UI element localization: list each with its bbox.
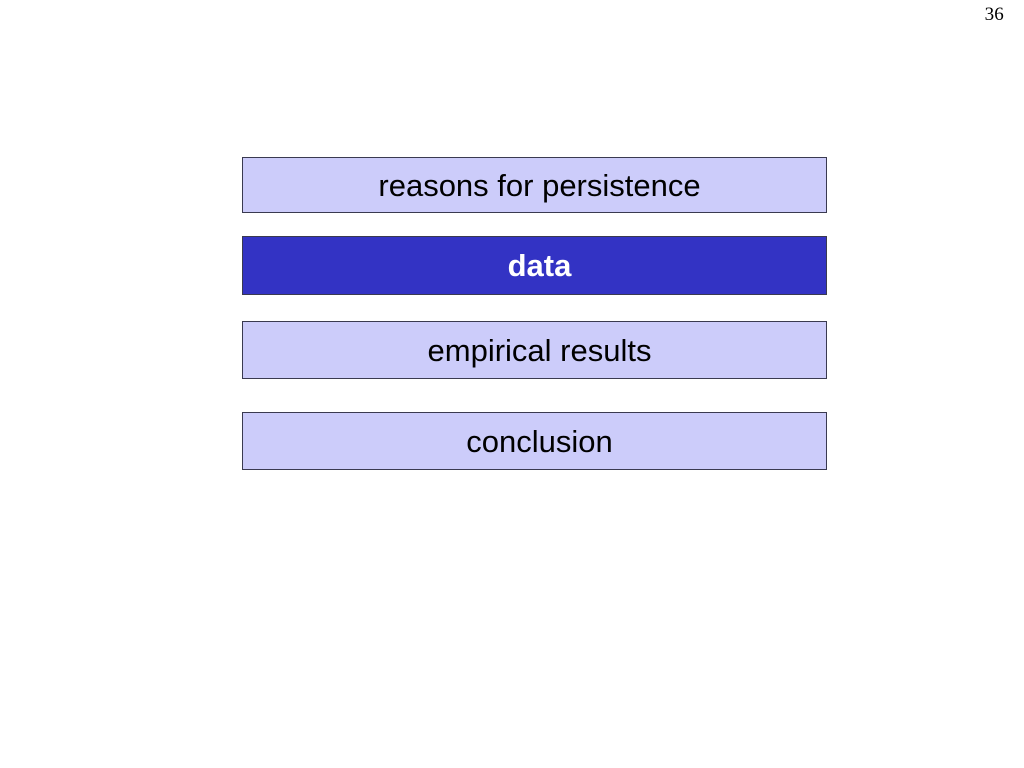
outline-item-label: reasons for persistence	[378, 170, 700, 201]
outline-item-conclusion[interactable]: conclusion	[242, 412, 827, 470]
outline-item-label: conclusion	[466, 426, 612, 457]
outline-item-label: data	[508, 250, 572, 281]
outline-item-data[interactable]: data	[242, 236, 827, 295]
outline-item-empirical-results[interactable]: empirical results	[242, 321, 827, 379]
outline-item-label: empirical results	[428, 335, 652, 366]
outline-item-reasons-for-persistence[interactable]: reasons for persistence	[242, 157, 827, 213]
page-number: 36	[985, 5, 1004, 24]
slide-canvas: 36 reasons for persistence data empirica…	[0, 0, 1024, 768]
